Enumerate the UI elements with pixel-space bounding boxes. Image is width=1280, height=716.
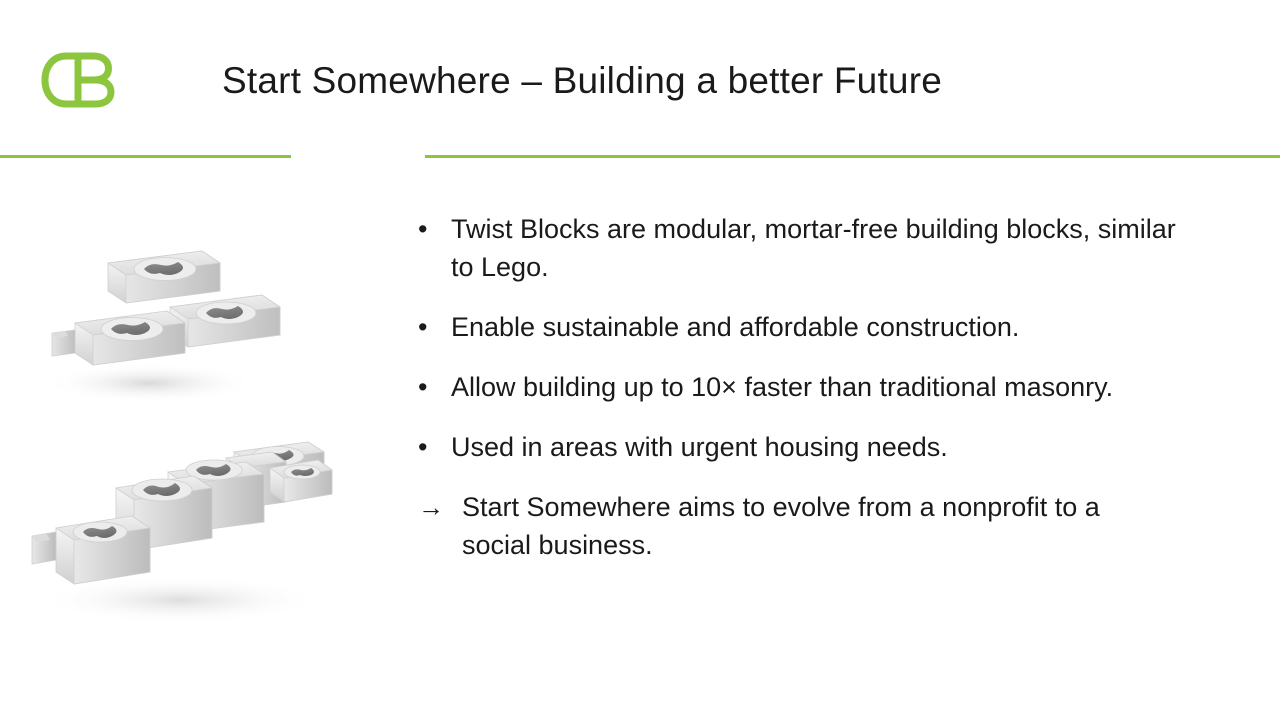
list-item: • Twist Blocks are modular, mortar-free … — [418, 210, 1218, 286]
list-item: • Allow building up to 10× faster than t… — [418, 368, 1218, 406]
bullet-list: • Twist Blocks are modular, mortar-free … — [418, 210, 1218, 586]
arrow-right-icon: → — [418, 488, 462, 526]
twist-block-curved-wall-render — [20, 410, 340, 630]
bullet-text: Used in areas with urgent housing needs. — [451, 428, 1181, 466]
bullet-marker-icon: • — [418, 308, 451, 346]
figure-column — [0, 200, 400, 660]
page-title: Start Somewhere – Building a better Futu… — [222, 60, 942, 102]
twist-block-stack-render — [30, 235, 290, 405]
divider-left — [0, 155, 291, 158]
bullet-marker-icon: • — [418, 428, 451, 466]
list-item-conclusion: → Start Somewhere aims to evolve from a … — [418, 488, 1218, 564]
slide-canvas: Start Somewhere – Building a better Futu… — [0, 0, 1280, 716]
bullet-marker-icon: • — [418, 368, 451, 406]
cb-monogram-logo — [40, 52, 122, 108]
bullet-text: Enable sustainable and affordable constr… — [451, 308, 1181, 346]
bullet-text: Twist Blocks are modular, mortar-free bu… — [451, 210, 1181, 286]
bullet-marker-icon: • — [418, 210, 451, 248]
divider-right — [425, 155, 1280, 158]
list-item: • Enable sustainable and affordable cons… — [418, 308, 1218, 346]
bullet-text: Allow building up to 10× faster than tra… — [451, 368, 1181, 406]
list-item: • Used in areas with urgent housing need… — [418, 428, 1218, 466]
bullet-text: Start Somewhere aims to evolve from a no… — [462, 488, 1102, 564]
